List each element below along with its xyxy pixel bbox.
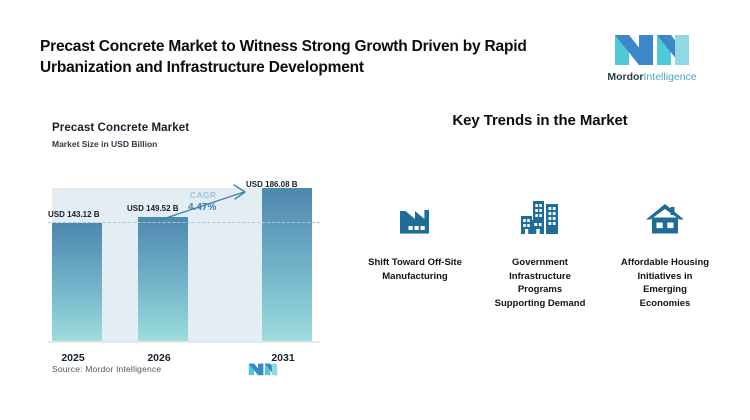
chart-source-text: Source: Mordor Intelligence bbox=[52, 364, 161, 374]
cagr-label: CAGR bbox=[190, 190, 216, 200]
trend-label: Shift Toward Off-Site Manufacturing bbox=[367, 256, 463, 283]
bar-label-2025: USD 143.12 B bbox=[48, 210, 100, 219]
market-size-chart-panel: Precast Concrete Market Market Size in U… bbox=[40, 122, 330, 392]
bar-label-2026: USD 149.52 B bbox=[127, 204, 179, 213]
trend-card-affordable-housing: Affordable Housing Initiatives in Emergi… bbox=[610, 194, 720, 310]
bar-2031 bbox=[262, 188, 312, 341]
brand-wordmark: MordorIntelligence bbox=[604, 71, 700, 83]
cagr-value: 4.47% bbox=[188, 202, 216, 213]
bar-2026 bbox=[138, 217, 188, 341]
bar-label-2031: USD 186.08 B bbox=[246, 180, 298, 189]
trend-label: Affordable Housing Initiatives in Emergi… bbox=[617, 256, 713, 310]
x-axis-line bbox=[48, 341, 320, 343]
bar-chart-plot-area: USD 143.12 B USD 149.52 B USD 186.08 B C… bbox=[48, 172, 320, 347]
city-buildings-icon bbox=[520, 194, 560, 236]
factory-icon bbox=[398, 194, 432, 236]
house-icon bbox=[645, 194, 685, 236]
chart-title: Precast Concrete Market bbox=[52, 122, 189, 134]
chart-source-row: Source: Mordor Intelligence bbox=[52, 362, 312, 380]
header-bar: Precast Concrete Market to Witness Stron… bbox=[0, 0, 750, 100]
trend-label: Government Infrastructure Programs Suppo… bbox=[492, 256, 588, 310]
trend-card-government-infrastructure: Government Infrastructure Programs Suppo… bbox=[485, 194, 595, 310]
trend-card-list: Shift Toward Off-Site Manufacturing bbox=[360, 194, 720, 310]
brand-name-bold: Mordor bbox=[607, 71, 643, 83]
brand-logo: MordorIntelligence bbox=[604, 31, 700, 89]
reference-dashed-line bbox=[48, 222, 320, 223]
brand-name-light: Intelligence bbox=[644, 71, 697, 83]
trend-card-offsite-manufacturing: Shift Toward Off-Site Manufacturing bbox=[360, 194, 470, 283]
mordor-intelligence-mark-icon bbox=[248, 362, 278, 376]
page-title: Precast Concrete Market to Witness Stron… bbox=[40, 36, 560, 78]
bar-2025 bbox=[52, 223, 102, 341]
chart-subtitle: Market Size in USD Billion bbox=[52, 139, 157, 149]
key-trends-panel: Key Trends in the Market Shift Toward Of… bbox=[360, 112, 720, 392]
key-trends-heading: Key Trends in the Market bbox=[360, 112, 720, 129]
mordor-intelligence-logo-icon bbox=[613, 31, 691, 67]
